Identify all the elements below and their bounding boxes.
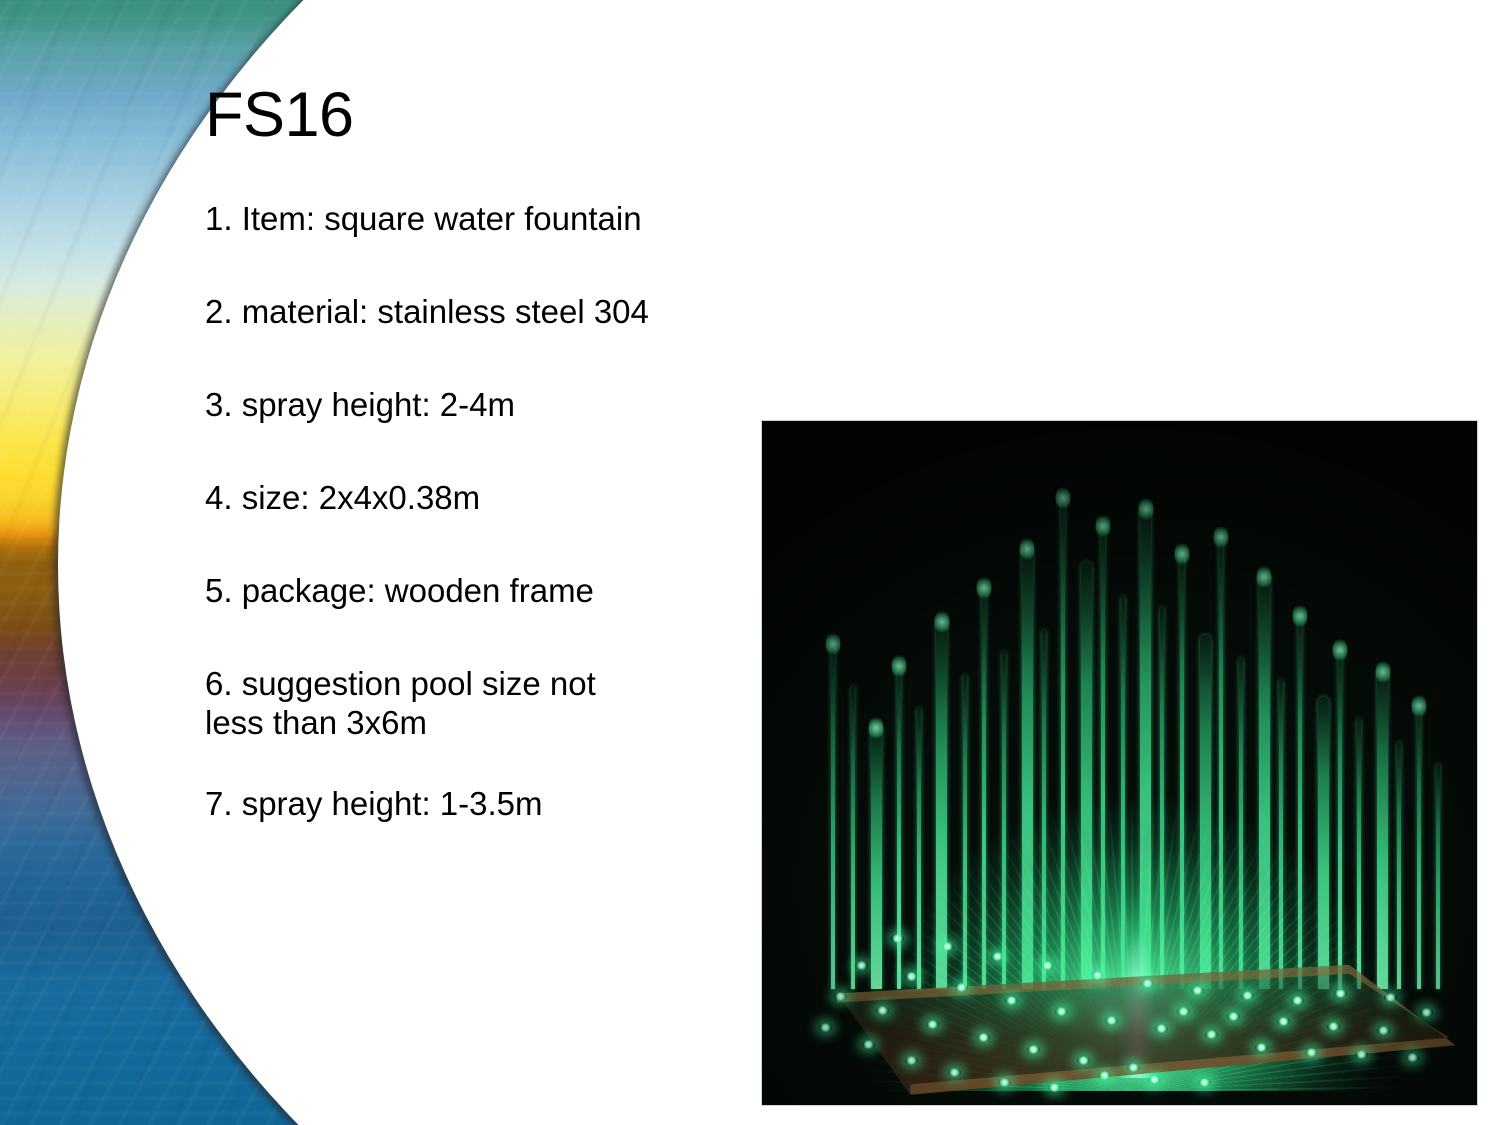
photo-vignette xyxy=(762,421,1477,1105)
list-item: 1. Item: square water fountain xyxy=(205,199,705,238)
list-item: 7. spray height: 1-3.5m xyxy=(205,784,705,823)
photo-night-background xyxy=(762,421,1477,1105)
fountain-photo xyxy=(761,420,1478,1106)
list-item: 2. material: stainless steel 304 xyxy=(205,292,705,331)
list-item: 4. size: 2x4x0.38m xyxy=(205,478,705,517)
slide-content: FS16 1. Item: square water fountain 2. m… xyxy=(0,0,1500,1125)
specification-list: 1. Item: square water fountain 2. materi… xyxy=(205,199,705,823)
slide-canvas: FS16 1. Item: square water fountain 2. m… xyxy=(0,0,1500,1125)
page-title: FS16 xyxy=(205,84,354,147)
list-item: 5. package: wooden frame xyxy=(205,571,705,610)
list-item: 6. suggestion pool size not less than 3x… xyxy=(205,664,705,742)
list-item: 3. spray height: 2-4m xyxy=(205,385,705,424)
